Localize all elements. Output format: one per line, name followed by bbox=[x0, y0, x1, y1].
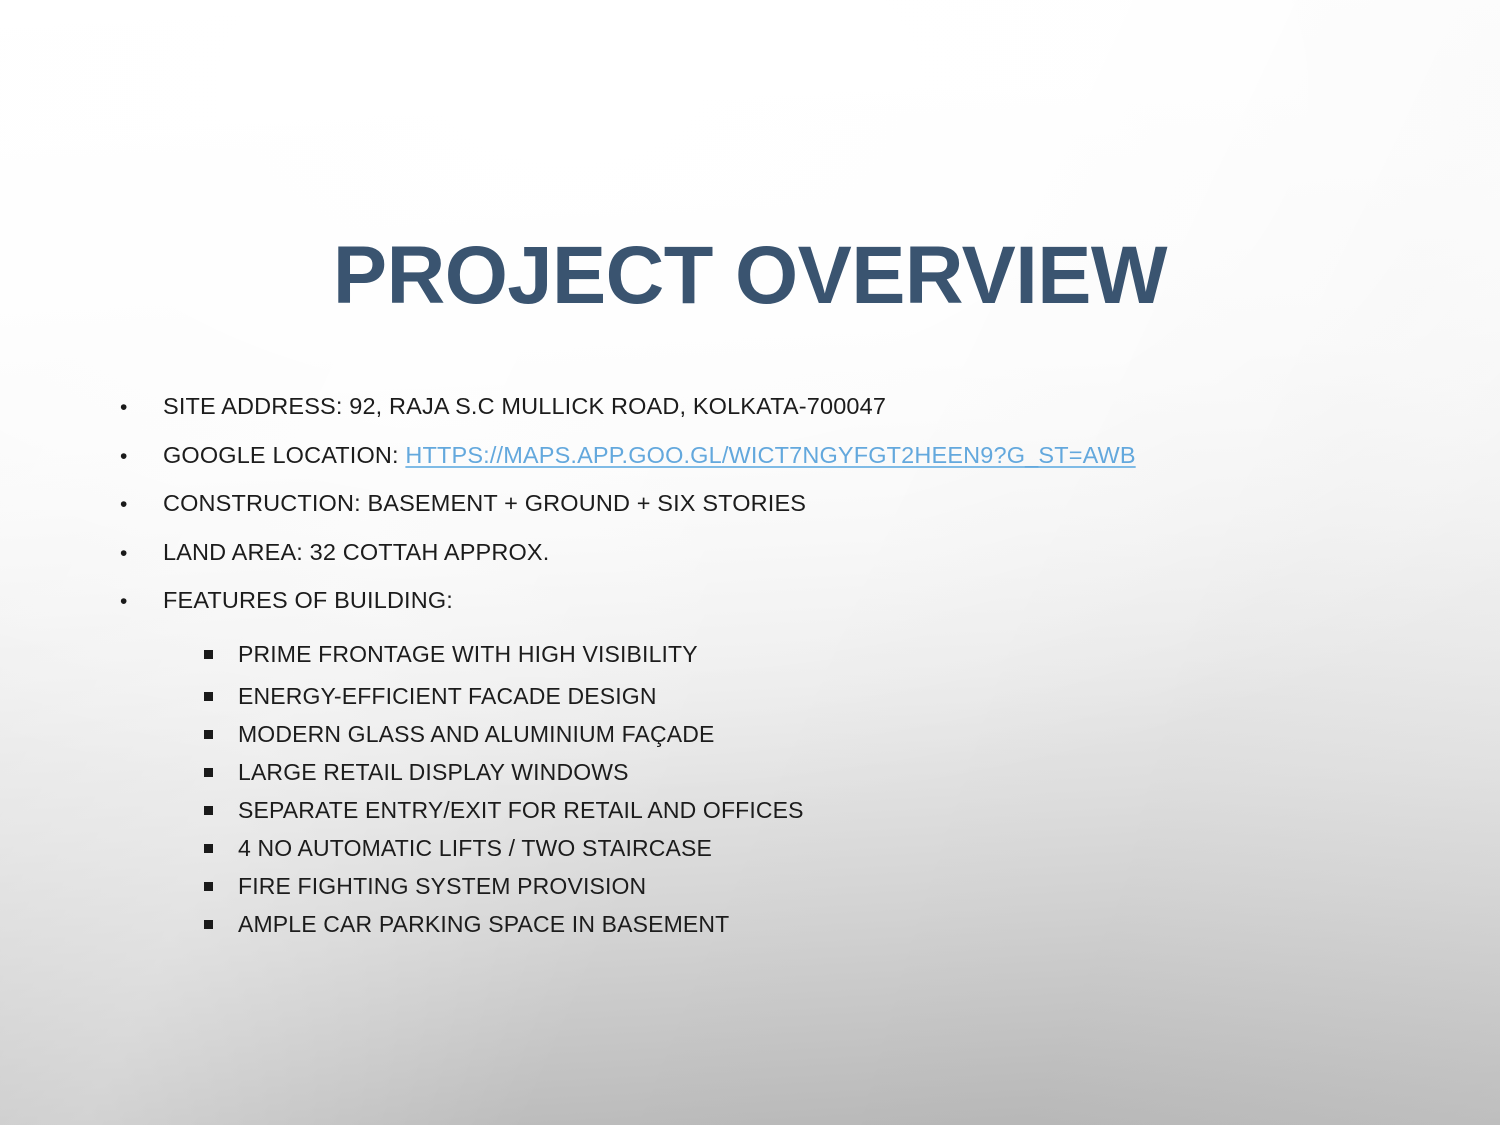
bullet-dot-icon: • bbox=[120, 489, 163, 518]
square-bullet-icon bbox=[204, 910, 238, 929]
sub-bullet-text-fire-fighting: FIRE FIGHTING SYSTEM PROVISION bbox=[238, 872, 1500, 901]
sub-bullet-item-fire-fighting: FIRE FIGHTING SYSTEM PROVISION bbox=[0, 872, 1500, 910]
square-bullet-icon bbox=[204, 796, 238, 815]
sub-bullet-item-energy-efficient-facade: ENERGY-EFFICIENT FACADE DESIGN bbox=[0, 682, 1500, 720]
square-bullet-icon bbox=[204, 872, 238, 891]
bullet-item-google-location: • GOOGLE LOCATION: HTTPS://MAPS.APP.GOO.… bbox=[0, 441, 1500, 490]
sub-bullet-text-modern-glass-facade: MODERN GLASS AND ALUMINIUM FAÇADE bbox=[238, 720, 1500, 749]
square-bullet-icon bbox=[204, 640, 238, 659]
google-location-label: GOOGLE LOCATION: bbox=[163, 442, 405, 468]
google-maps-link[interactable]: HTTPS://MAPS.APP.GOO.GL/WICT7NGYFGT2HEEN… bbox=[405, 442, 1135, 468]
square-bullet-icon bbox=[204, 720, 238, 739]
sub-bullet-text-energy-efficient-facade: ENERGY-EFFICIENT FACADE DESIGN bbox=[238, 682, 1500, 711]
bullet-dot-icon: • bbox=[120, 538, 163, 567]
bullet-text-features-of-building: FEATURES OF BUILDING: bbox=[163, 586, 1500, 615]
square-bullet-icon bbox=[204, 682, 238, 701]
bullet-text-google-location: GOOGLE LOCATION: HTTPS://MAPS.APP.GOO.GL… bbox=[163, 441, 1500, 470]
sub-bullet-item-modern-glass-facade: MODERN GLASS AND ALUMINIUM FAÇADE bbox=[0, 720, 1500, 758]
sub-bullet-item-car-parking: AMPLE CAR PARKING SPACE IN BASEMENT bbox=[0, 910, 1500, 948]
page-title: PROJECT OVERVIEW bbox=[8, 233, 1493, 319]
sub-bullet-text-car-parking: AMPLE CAR PARKING SPACE IN BASEMENT bbox=[238, 910, 1500, 939]
bullet-item-construction: • CONSTRUCTION: BASEMENT + GROUND + SIX … bbox=[0, 489, 1500, 538]
square-bullet-icon bbox=[204, 834, 238, 853]
bullet-dot-icon: • bbox=[120, 392, 163, 421]
bullet-dot-icon: • bbox=[120, 441, 163, 470]
square-bullet-icon bbox=[204, 758, 238, 777]
sub-bullet-item-prime-frontage: PRIME FRONTAGE WITH HIGH VISIBILITY bbox=[0, 640, 1500, 682]
features-sub-list: PRIME FRONTAGE WITH HIGH VISIBILITY ENER… bbox=[0, 640, 1500, 948]
bullet-item-features-of-building: • FEATURES OF BUILDING: bbox=[0, 586, 1500, 635]
sub-bullet-item-retail-display-windows: LARGE RETAIL DISPLAY WINDOWS bbox=[0, 758, 1500, 796]
sub-bullet-item-separate-entry-exit: SEPARATE ENTRY/EXIT FOR RETAIL AND OFFIC… bbox=[0, 796, 1500, 834]
slide-body-content: • SITE ADDRESS: 92, RAJA S.C MULLICK ROA… bbox=[0, 392, 1500, 948]
sub-bullet-text-prime-frontage: PRIME FRONTAGE WITH HIGH VISIBILITY bbox=[238, 640, 1500, 669]
bullet-text-site-address: SITE ADDRESS: 92, RAJA S.C MULLICK ROAD,… bbox=[163, 392, 1500, 421]
bullet-item-land-area: • LAND AREA: 32 COTTAH APPROX. bbox=[0, 538, 1500, 587]
sub-bullet-item-lifts-staircase: 4 NO AUTOMATIC LIFTS / TWO STAIRCASE bbox=[0, 834, 1500, 872]
bullet-text-construction: CONSTRUCTION: BASEMENT + GROUND + SIX ST… bbox=[163, 489, 1500, 518]
sub-bullet-text-retail-display-windows: LARGE RETAIL DISPLAY WINDOWS bbox=[238, 758, 1500, 787]
slide-canvas: PROJECT OVERVIEW • SITE ADDRESS: 92, RAJ… bbox=[0, 0, 1500, 1125]
sub-bullet-text-separate-entry-exit: SEPARATE ENTRY/EXIT FOR RETAIL AND OFFIC… bbox=[238, 796, 1500, 825]
bullet-dot-icon: • bbox=[120, 586, 163, 615]
bullet-text-land-area: LAND AREA: 32 COTTAH APPROX. bbox=[163, 538, 1500, 567]
sub-bullet-text-lifts-staircase: 4 NO AUTOMATIC LIFTS / TWO STAIRCASE bbox=[238, 834, 1500, 863]
bullet-item-site-address: • SITE ADDRESS: 92, RAJA S.C MULLICK ROA… bbox=[0, 392, 1500, 441]
